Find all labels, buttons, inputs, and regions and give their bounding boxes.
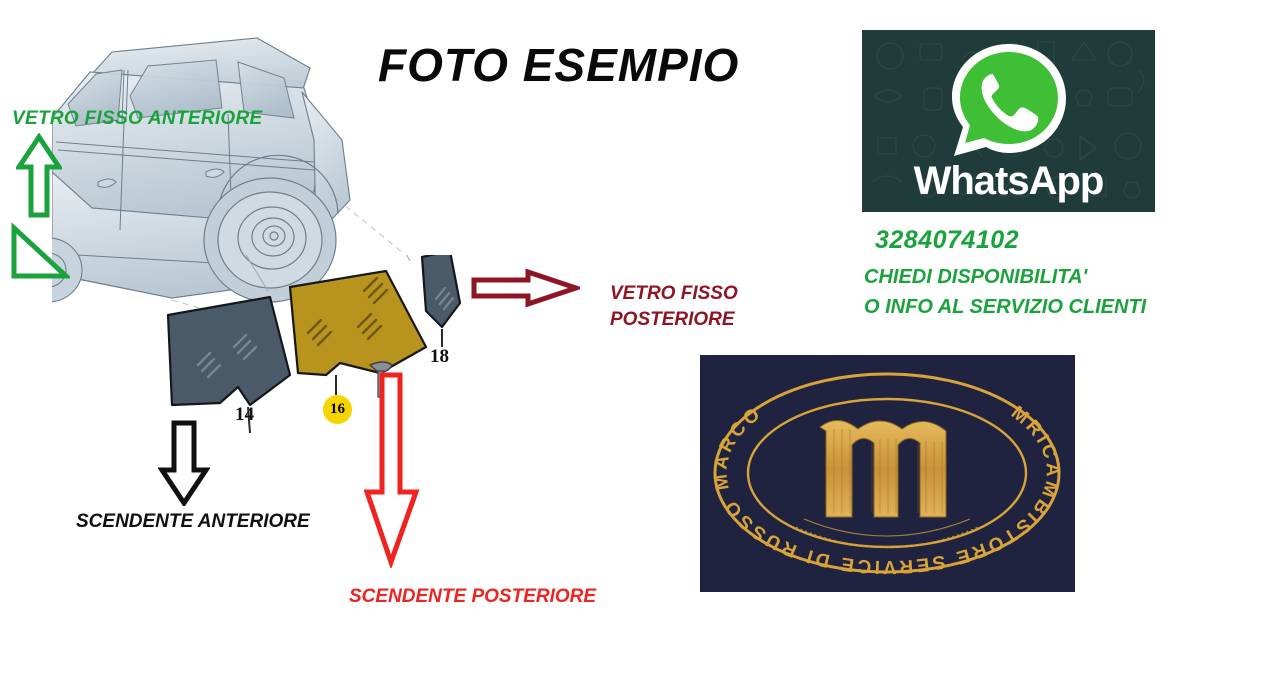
screenshot-canvas: FOTO ESEMPIO: [0, 0, 1264, 678]
part-number-18: 18: [430, 346, 449, 368]
arrow-down-icon-black: [158, 420, 210, 506]
triangle-marker-icon: [8, 222, 70, 282]
arrow-up-icon: [16, 133, 62, 219]
label-vetro-fisso-posteriore: VETRO FISSO POSTERIORE: [610, 281, 738, 332]
label-scendente-anteriore: SCENDENTE ANTERIORE: [76, 511, 310, 533]
whatsapp-banner[interactable]: WhatsApp: [862, 30, 1155, 212]
arrow-right-icon: [470, 268, 580, 308]
label-scendente-posteriore: SCENDENTE POSTERIORE: [349, 586, 596, 608]
whatsapp-wordmark: WhatsApp: [862, 159, 1155, 204]
contact-availability-line: CHIEDI DISPONIBILITA': [864, 266, 1087, 289]
arrow-down-icon-red: [364, 372, 420, 568]
part-number-16-badge: 16: [323, 395, 352, 424]
company-logo: MRICAMBISTORE SERVICE DI RUSSO MARCO: [700, 355, 1075, 592]
part-number-14: 14: [235, 404, 254, 426]
contact-phone-number[interactable]: 3284074102: [875, 226, 1019, 255]
page-title: FOTO ESEMPIO: [378, 38, 798, 92]
whatsapp-phone-bubble-icon: [946, 38, 1072, 162]
contact-service-line: O INFO AL SERVIZIO CLIENTI: [864, 296, 1146, 319]
label-vetro-fisso-anteriore: VETRO FISSO ANTERIORE: [12, 108, 263, 130]
